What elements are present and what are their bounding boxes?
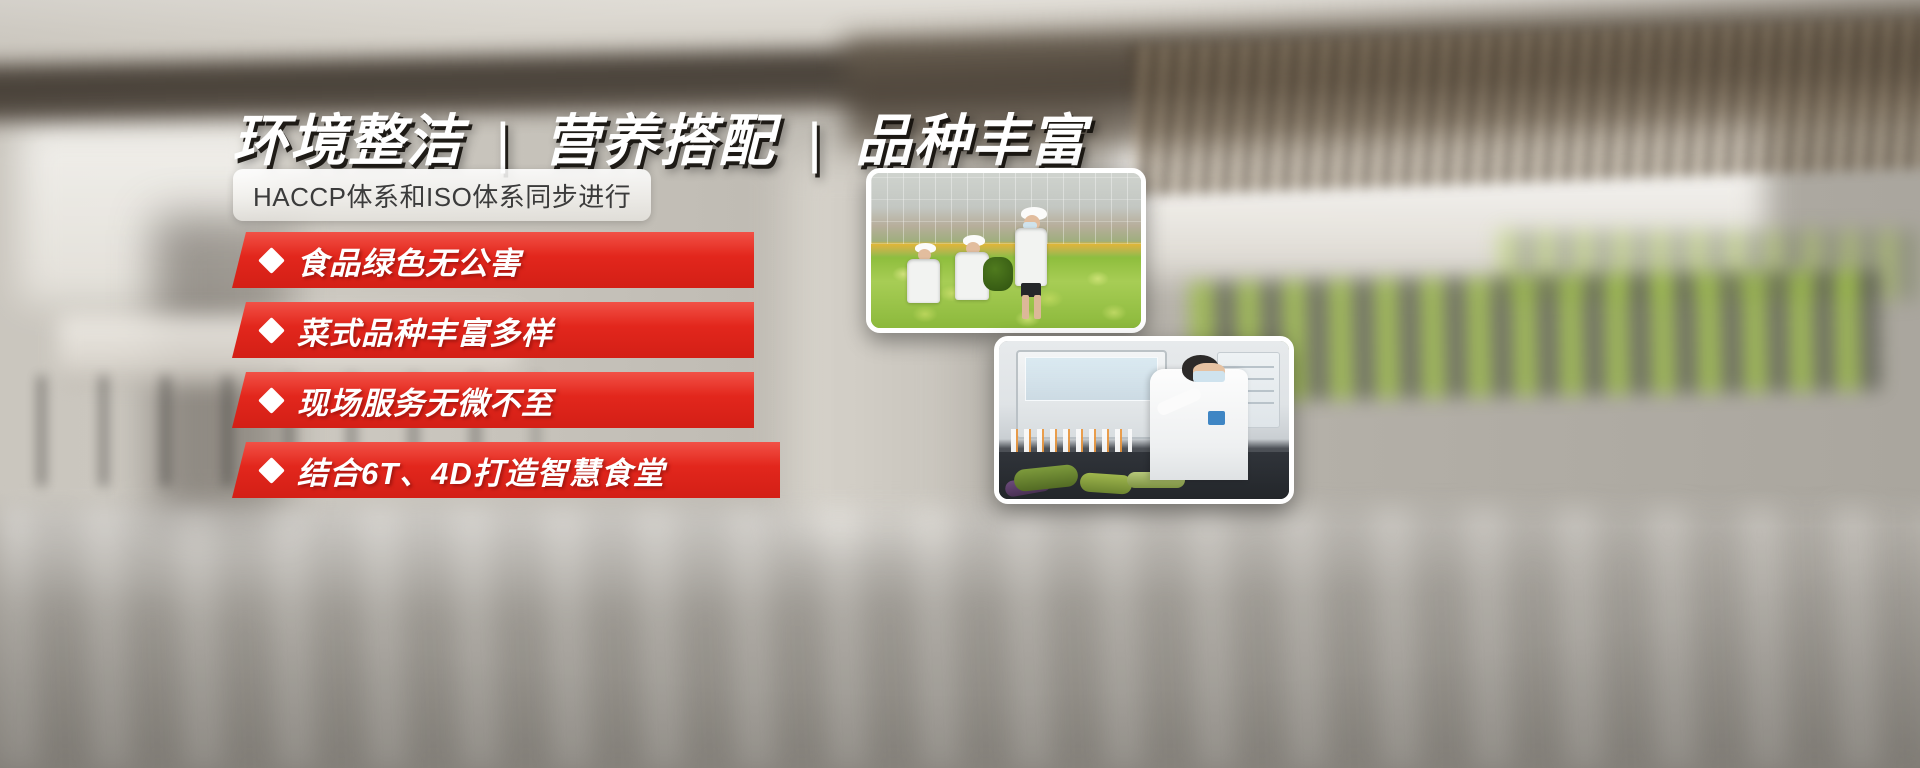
feature-label-3: 现场服务无微不至	[297, 378, 553, 423]
worker-leg-right	[1034, 295, 1041, 319]
subtitle-text: HACCP体系和ISO体系同步进行	[253, 177, 631, 214]
feature-row-1[interactable]: 食品绿色无公害	[232, 232, 754, 288]
worker-labcoat	[1015, 228, 1047, 286]
diamond-icon	[258, 317, 285, 344]
headline-part-3: 品种丰富	[855, 109, 1087, 172]
diamond-icon	[258, 387, 285, 414]
technician-mask	[1193, 371, 1225, 382]
greenhouse-inspection-photo[interactable]	[866, 168, 1146, 333]
harvested-greens	[983, 257, 1013, 291]
headline-part-2: 营养搭配	[544, 109, 776, 172]
headline-separator-2: |	[793, 110, 838, 175]
worker-leg-left	[1022, 295, 1029, 319]
banner-headline: 环境整洁 | 营养搭配 | 品种丰富	[232, 96, 1087, 177]
feature-label-2: 菜式品种丰富多样	[297, 308, 553, 353]
laboratory-scene	[999, 341, 1289, 499]
technician-labcoat	[1150, 369, 1249, 480]
feature-row-4[interactable]: 结合6T、4D打造智慧食堂	[232, 442, 780, 498]
fume-hood-glass	[1025, 357, 1158, 401]
vegetable-sample-2	[1080, 472, 1133, 495]
feature-row-3[interactable]: 现场服务无微不至	[232, 372, 754, 428]
diamond-icon	[258, 457, 285, 484]
feature-label-1: 食品绿色无公害	[297, 238, 521, 283]
technician-badge	[1208, 411, 1225, 425]
laboratory-testing-photo[interactable]	[994, 336, 1294, 504]
greenhouse-scene	[871, 173, 1141, 328]
feature-list: 食品绿色无公害 菜式品种丰富多样 现场服务无微不至 结合6T、4D打造智慧食堂	[232, 232, 780, 512]
worker3-labcoat	[907, 259, 940, 303]
feature-row-2[interactable]: 菜式品种丰富多样	[232, 302, 754, 358]
promo-banner: 环境整洁 | 营养搭配 | 品种丰富 HACCP体系和ISO体系同步进行 食品绿…	[0, 0, 1920, 768]
diamond-icon	[258, 247, 285, 274]
feature-label-4: 结合6T、4D打造智慧食堂	[297, 448, 665, 493]
greenhouse-structure	[871, 173, 1141, 244]
subtitle-badge: HACCP体系和ISO体系同步进行	[233, 169, 651, 221]
headline-separator-1: |	[482, 110, 527, 175]
headline-part-1: 环境整洁	[232, 109, 464, 172]
